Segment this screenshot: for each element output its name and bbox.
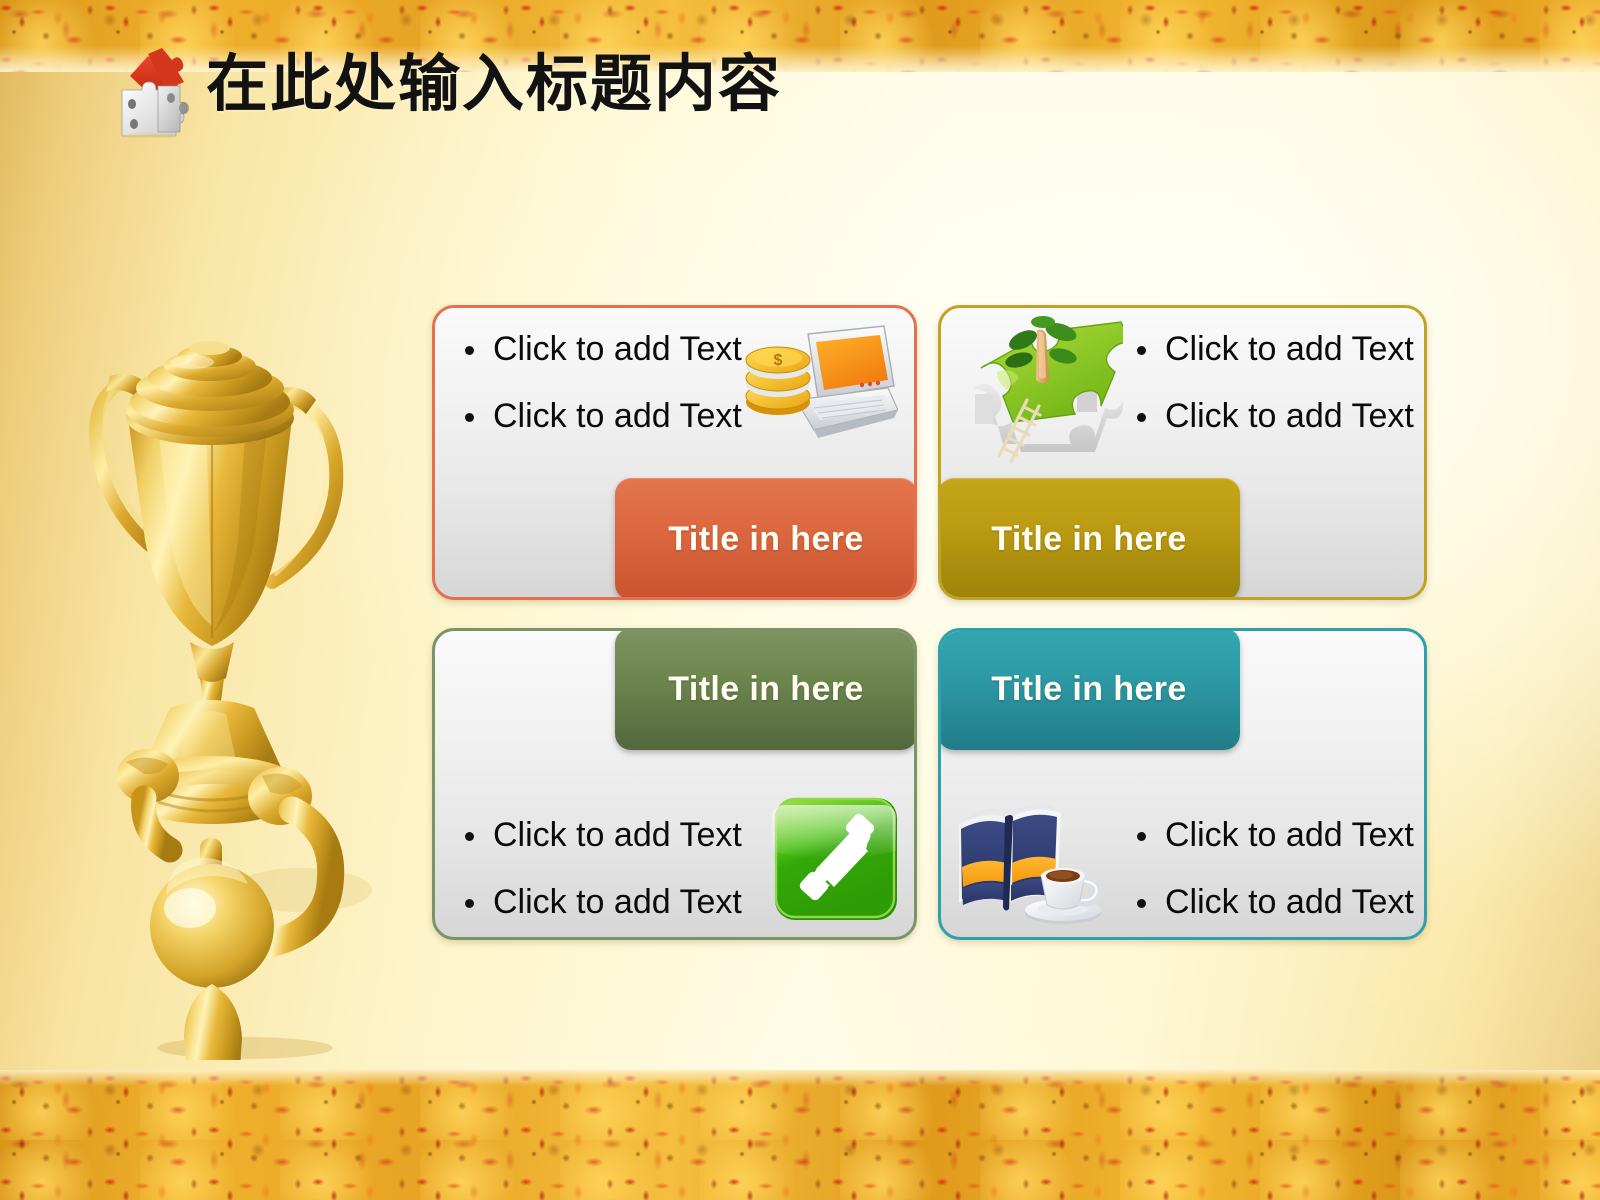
list-item: Click to add Text — [1131, 397, 1414, 435]
open-book-coffee-icon — [955, 795, 1115, 927]
green-puzzle-tree-ladder-icon — [951, 316, 1123, 464]
card-1-bullet-list: Click to add Text Click to add Text — [459, 330, 742, 435]
green-phone-icon — [772, 795, 900, 923]
card-3-title-label: Title in here — [615, 670, 917, 709]
list-item: Click to add Text — [459, 397, 742, 435]
card-1-title-label: Title in here — [615, 520, 917, 559]
bottom-ornamental-border — [0, 1070, 1600, 1200]
card-2-title-label: Title in here — [938, 520, 1240, 559]
slide-header: 在此处输入标题内容 — [0, 0, 1600, 142]
content-card-3[interactable]: Title in here Click to add Text Click to… — [432, 628, 917, 940]
card-1-title-banner[interactable]: Title in here — [615, 478, 917, 600]
content-card-1[interactable]: Click to add Text Click to add Text — [432, 305, 917, 600]
card-3-bullet-list: Click to add Text Click to add Text — [459, 816, 742, 921]
page-title: 在此处输入标题内容 — [206, 52, 782, 117]
presentation-slide: 在此处输入标题内容 — [0, 0, 1600, 1200]
card-4-title-banner[interactable]: Title in here — [938, 628, 1240, 750]
gold-trophy-mascot-icon — [40, 290, 400, 1060]
list-item: Click to add Text — [459, 883, 742, 921]
svg-text:$: $ — [774, 352, 783, 369]
card-4-title-label: Title in here — [938, 670, 1240, 709]
list-item: Click to add Text — [459, 816, 742, 854]
card-3-title-banner[interactable]: Title in here — [615, 628, 917, 750]
content-card-2[interactable]: Click to add Text Click to add Text Titl… — [938, 305, 1427, 600]
list-item: Click to add Text — [1131, 816, 1414, 854]
laptop-coins-icon: $ — [738, 322, 898, 452]
list-item: Click to add Text — [459, 330, 742, 368]
list-item: Click to add Text — [1131, 883, 1414, 921]
card-2-bullet-list: Click to add Text Click to add Text — [1131, 330, 1414, 435]
card-2-title-banner[interactable]: Title in here — [938, 478, 1240, 600]
content-card-4[interactable]: Title in here — [938, 628, 1427, 940]
content-card-grid: Click to add Text Click to add Text — [432, 305, 1427, 940]
list-item: Click to add Text — [1131, 330, 1414, 368]
puzzle-piece-icon — [114, 46, 192, 138]
card-4-bullet-list: Click to add Text Click to add Text — [1131, 816, 1414, 921]
